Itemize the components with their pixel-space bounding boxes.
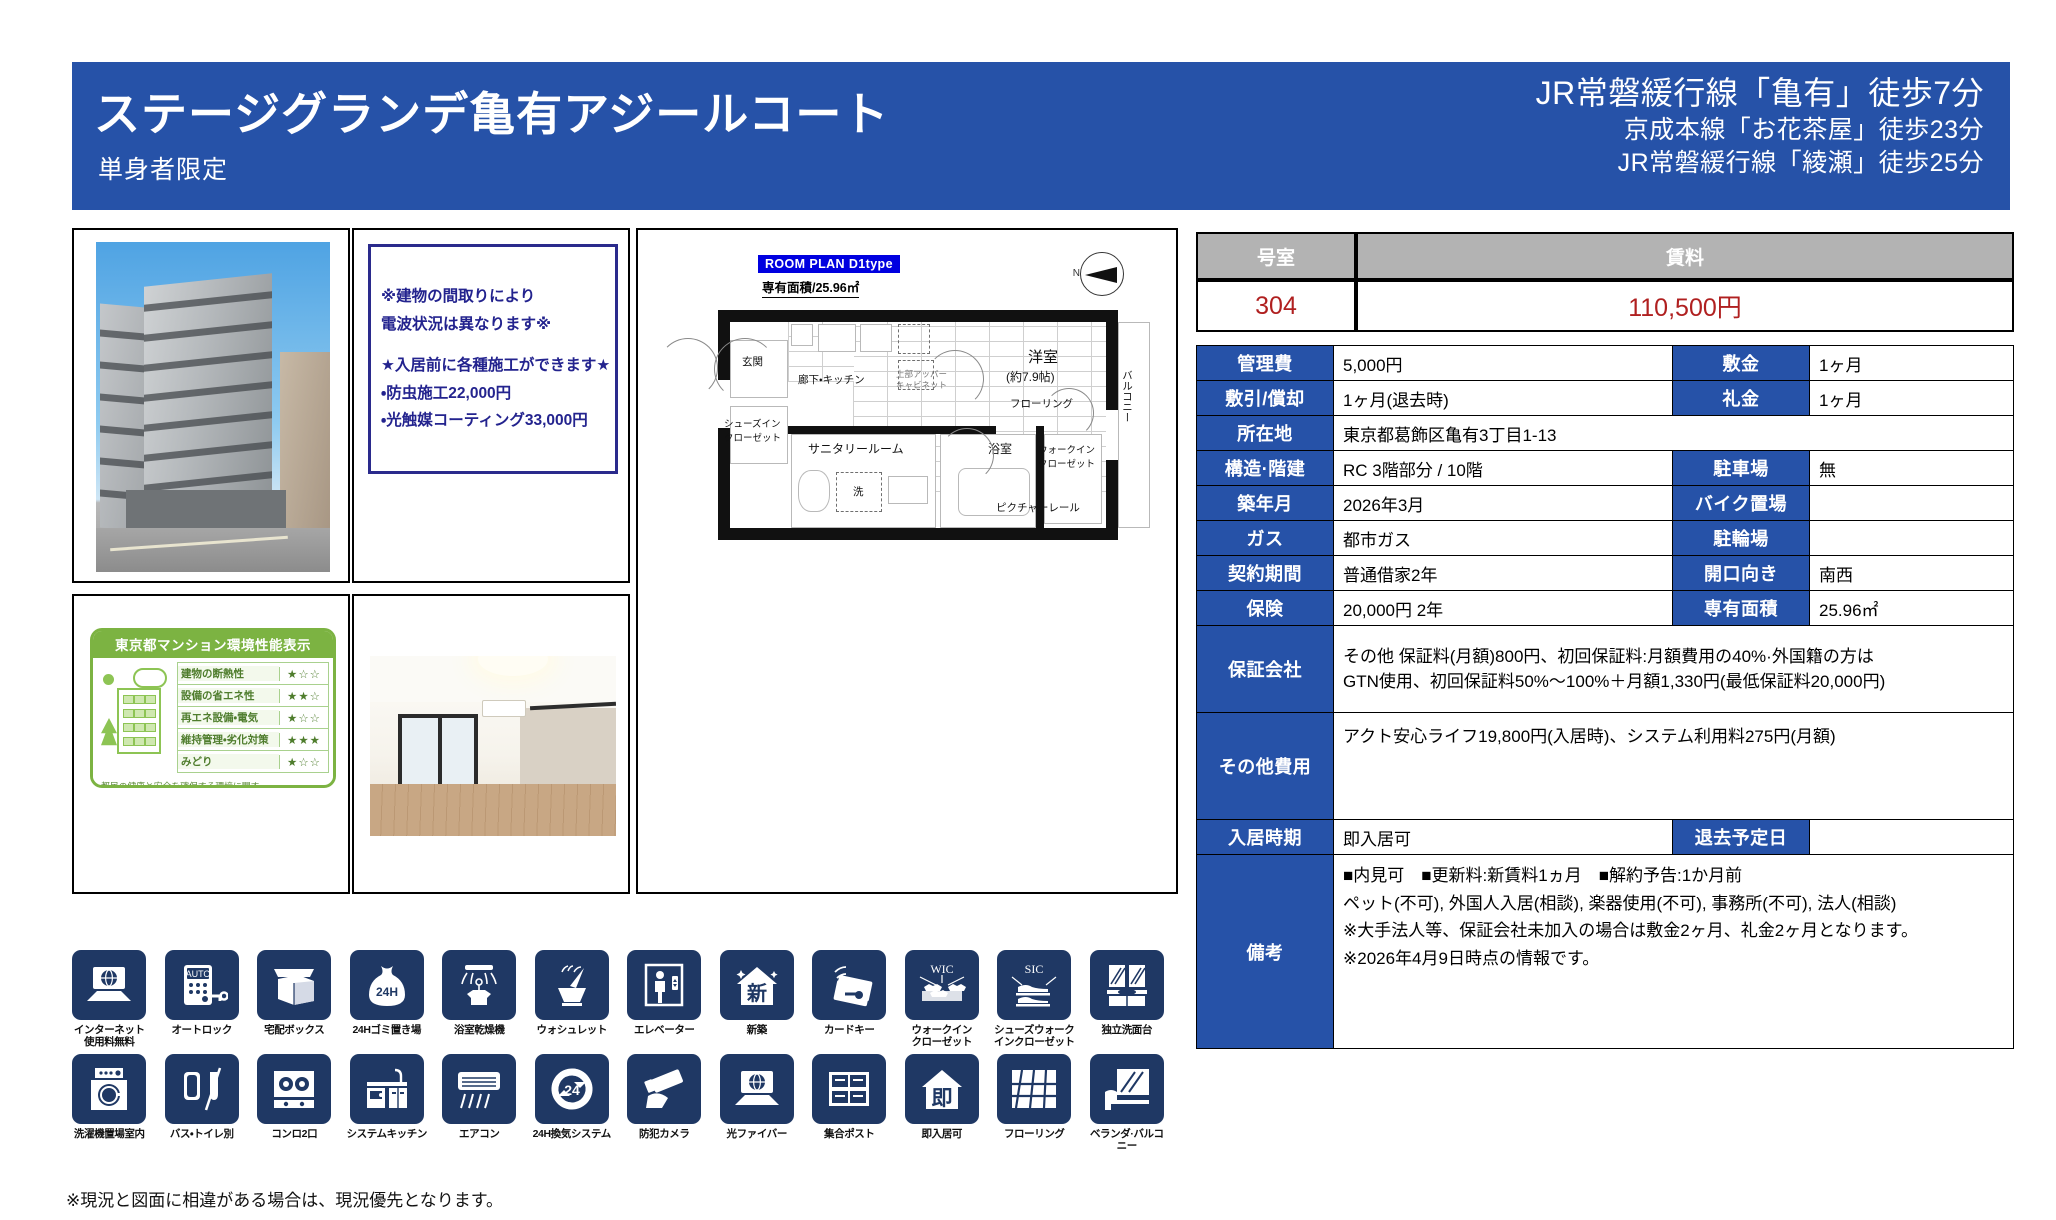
amenity-washer-indoor: 洗濯機置場室内: [68, 1054, 151, 1152]
amenity-caption: エレベーター: [623, 1024, 706, 1036]
eco-rating-row: 建物の断熱性 ★☆☆: [177, 662, 329, 684]
note-line-3: ★入居前に各種施工ができます★: [381, 352, 613, 380]
amenity-bath-dryer: 浴室乾燥機: [438, 950, 521, 1048]
page-subtitle: 単身者限定: [98, 150, 228, 186]
plan-label-shoes-in-2: クローゼット: [724, 430, 781, 444]
plan-label-picture-rail: ピクチャーレール: [996, 500, 1080, 515]
building-entrance-level: [126, 490, 286, 532]
note-line-4: ・防虫施工22,000円: [381, 380, 613, 408]
compass-north-label: N: [1073, 268, 1080, 279]
eco-rating-stars: ★☆☆: [279, 711, 328, 725]
eco-rating-stars: ★☆☆: [279, 667, 328, 681]
row-label-facing: 開口向き: [1673, 556, 1810, 591]
plan-label-room-size: (約7.9帖): [1006, 368, 1055, 385]
price-header-row: 号室 賃料: [1196, 232, 2014, 280]
amenity-air-conditioner: エアコン: [438, 1054, 521, 1152]
amenity-24h-garbage: 24H 24Hゴミ置き場: [346, 950, 429, 1048]
amenity-icons-section: インターネット使用料無料 AUTO オートロック 宅配ボックス 24H 24Hゴ: [68, 950, 1168, 1158]
table-row: 敷引/償却 1ヶ月(退去時) 礼金 1ヶ月: [1197, 381, 2014, 416]
eco-rating-stars: ★☆☆: [279, 755, 328, 769]
svg-text:SIC: SIC: [1025, 962, 1044, 976]
row-value-built-date: 2026年3月: [1334, 486, 1673, 521]
svg-text:24H: 24H: [376, 985, 398, 999]
auto-lock-icon: AUTO: [165, 950, 239, 1020]
table-row: 管理費 5,000円 敷金 1ヶ月: [1197, 346, 2014, 381]
flooring-icon: [997, 1054, 1071, 1124]
amenity-immediate-move-in: 即 即入居可: [901, 1054, 984, 1152]
amenity-caption: 集合ポスト: [808, 1128, 891, 1140]
immediate-move-in-icon: 即: [905, 1054, 979, 1124]
table-row: 構造·階建 RC 3階部分 / 10階 駐車場 無: [1197, 451, 2014, 486]
veranda-balcony-icon: [1090, 1054, 1164, 1124]
remarks-line-4: ※2026年4月9日時点の情報です。: [1343, 945, 2004, 973]
row-label-other-fees: その他費用: [1197, 713, 1334, 820]
walk-in-closet-icon: WIC: [905, 950, 979, 1020]
note-line-5: ・光触媒コーティング33,000円: [381, 407, 613, 435]
amenity-caption: 光ファイバー: [716, 1128, 799, 1140]
table-row: 築年月 2026年3月 バイク置場: [1197, 486, 2014, 521]
system-kitchen-icon: [350, 1054, 424, 1124]
eco-rating-label: みどり: [178, 754, 279, 769]
row-label-insurance: 保険: [1197, 591, 1334, 626]
amenity-delivery-box: 宅配ボックス: [253, 950, 336, 1048]
eco-rating-label: 維持管理・劣化対策: [178, 732, 279, 747]
eco-label-card: 東京都マンション環境性能表示 建物の断熱性 ★☆: [90, 628, 336, 788]
street-foreground: [96, 528, 330, 572]
amenity-system-kitchen: システムキッチン: [346, 1054, 429, 1152]
eco-footer-text: 都民の健康と安全を確保する環境に関する条例に基づき建築主が自己評価したものです。: [101, 780, 261, 788]
amenity-shoes-in-closet: SIC シューズウォークインクローゼット: [993, 950, 1076, 1048]
remarks-line-2: ペット(不可), 外国人入居(相談), 楽器使用(不可), 事務所(不可), 法…: [1343, 890, 2004, 918]
row-label-move-in-date: 入居時期: [1197, 820, 1334, 855]
24h-garbage-icon: 24H: [350, 950, 424, 1020]
amenity-card-key: カードキー: [808, 950, 891, 1048]
station-access-2: 京成本線「お花茶屋」徒歩23分: [1536, 114, 1984, 147]
ceiling-area: [370, 656, 616, 702]
row-value-deposit: 1ヶ月: [1810, 346, 2014, 381]
amenity-caption: コンロ2口: [253, 1128, 336, 1140]
amenity-caption: システムキッチン: [346, 1128, 429, 1140]
amenity-caption: 洗濯機置場室内: [68, 1128, 151, 1140]
amenity-two-burner: コンロ2口: [253, 1054, 336, 1152]
svg-text:AUTO: AUTO: [185, 969, 210, 979]
room-plan-badge: ROOM PLAN D1type: [758, 255, 900, 273]
row-value-facing: 南西: [1810, 556, 2014, 591]
tree-icon: [101, 718, 117, 752]
disclaimer-footnote: ※現況と図面に相違がある場合は、現況優先となります。: [66, 1186, 503, 1211]
amenity-caption: オートロック: [161, 1024, 244, 1036]
construction-options-note: ※建物の間取りにより 電波状況は異なります※ ★入居前に各種施工ができます★ ・…: [352, 228, 630, 583]
table-row: 備考 ■内見可 ■更新料:新賃料1ヵ月 ■解約予告:1か月前 ペット(不可), …: [1197, 855, 2014, 1049]
room-interior-photo: [352, 594, 630, 894]
amenity-caption: 独立洗面台: [1086, 1024, 1169, 1036]
amenity-caption: 浴室乾燥機: [438, 1024, 521, 1036]
building-photo-image: [96, 242, 330, 572]
amenity-washlet: ウォシュレット: [531, 950, 614, 1048]
independent-washstand-icon: [1090, 950, 1164, 1020]
property-detail-table: 管理費 5,000円 敷金 1ヶ月 敷引/償却 1ヶ月(退去時) 礼金 1ヶ月 …: [1196, 345, 2014, 1049]
amenity-washstand: 独立洗面台: [1086, 950, 1169, 1048]
amenity-caption: カードキー: [808, 1024, 891, 1036]
eco-label-body: 建物の断熱性 ★☆☆ 設備の省エネ性 ★★☆ 再エネ設備・電気 ★☆☆ 維持管理…: [93, 658, 333, 780]
guarantee-line-2: GTN使用、初回保証料50%～100%＋月額1,330円(最低保証料20,000…: [1343, 669, 2004, 695]
two-burner-stove-icon: [257, 1054, 331, 1124]
amenity-optical-fiber: 光ファイバー: [716, 1054, 799, 1152]
plan-label-flooring: フローリング: [1010, 396, 1073, 411]
eco-rating-stars: ★★★: [279, 733, 328, 747]
amenity-security-camera: 防犯カメラ: [623, 1054, 706, 1152]
plan-label-walkin-1: ウォークイン: [1038, 442, 1095, 456]
eco-rating-row: 再エネ設備・電気 ★☆☆: [177, 706, 329, 728]
eco-rating-stars: ★★☆: [279, 689, 328, 703]
amenity-caption: エアコン: [438, 1128, 521, 1140]
table-row: 保険 20,000円 2年 専有面積 25.96㎡: [1197, 591, 2014, 626]
row-value-other-fees: アクト安心ライフ19,800円(入居時)、システム利用料275円(月額): [1334, 713, 2014, 820]
eco-label-title: 東京都マンション環境性能表示: [93, 631, 333, 658]
row-label-bicycle-parking: 駐輪場: [1673, 521, 1810, 556]
plan-label-wash: 洗: [853, 484, 864, 499]
row-value-bike-parking: [1810, 486, 2014, 521]
row-label-address: 所在地: [1197, 416, 1334, 451]
amenity-caption: 防犯カメラ: [623, 1128, 706, 1140]
row-value-floor-area: 25.96㎡: [1810, 591, 2014, 626]
station-access-list: JR常磐緩行線「亀有」徒歩7分 京成本線「お花茶屋」徒歩23分 JR常磐緩行線「…: [1536, 72, 1984, 180]
amenity-elevator: エレベーター: [623, 950, 706, 1048]
row-label-built-date: 築年月: [1197, 486, 1334, 521]
price-summary-table: 号室 賃料 304 110,500円: [1196, 232, 2014, 332]
row-label-remarks: 備考: [1197, 855, 1334, 1049]
plan-label-corridor-kitchen: 廊下・キッチン: [798, 372, 865, 387]
row-value-key-money: 1ヶ月: [1810, 381, 2014, 416]
row-value-parking: 無: [1810, 451, 2014, 486]
eco-rating-row: 設備の省エネ性 ★★☆: [177, 684, 329, 706]
floor-plan-panel: ROOM PLAN D1type 専有面積/25.96㎡ N 玄関 シューズイン…: [636, 228, 1178, 894]
row-label-bike-parking: バイク置場: [1673, 486, 1810, 521]
plan-label-sanitary: サニタリールーム: [808, 440, 904, 457]
air-conditioner-unit: [482, 700, 526, 717]
floor-plan-area-text: 専有面積/25.96㎡: [762, 277, 859, 298]
amenity-row-1: インターネット使用料無料 AUTO オートロック 宅配ボックス 24H 24Hゴ: [68, 950, 1168, 1048]
amenity-internet: インターネット使用料無料: [68, 950, 151, 1048]
amenity-24h-ventilation: 24 24H換気システム: [531, 1054, 614, 1152]
row-value-management-fee: 5,000円: [1334, 346, 1673, 381]
row-label-contract-period: 契約期間: [1197, 556, 1334, 591]
row-value-bicycle-parking: [1810, 521, 2014, 556]
price-value-row: 304 110,500円: [1196, 280, 2014, 332]
plan-label-balcony: バルコニー: [1120, 370, 1135, 423]
page-title: ステージグランデ亀有アジールコート: [94, 78, 889, 144]
row-value-guarantee-company: その他 保証料(月額)800円、初回保証料:月額費用の40%·外国籍の方は GT…: [1334, 626, 2014, 713]
note-line-1: ※建物の間取りにより: [381, 283, 613, 311]
room-photo-image: [370, 656, 616, 836]
amenity-walk-in-closet: WIC ウォークインクローゼット: [901, 950, 984, 1048]
amenity-caption: ベランダ·バルコニー: [1086, 1128, 1169, 1152]
price-header-rent: 賃料: [1356, 232, 2014, 280]
rent-value: 110,500円: [1356, 280, 2014, 332]
row-label-move-out-date: 退去予定日: [1673, 820, 1810, 855]
optical-fiber-icon: [720, 1054, 794, 1124]
table-row: 所在地 東京都葛飾区亀有3丁目1-13: [1197, 416, 2014, 451]
security-camera-icon: [627, 1054, 701, 1124]
mailbox-icon: [812, 1054, 886, 1124]
amenity-caption: インターネット使用料無料: [68, 1024, 151, 1048]
row-value-structure: RC 3階部分 / 10階: [1334, 451, 1673, 486]
washer-indoor-icon: [72, 1054, 146, 1124]
amenity-bath-toilet-separate: バス・トイレ別: [161, 1054, 244, 1152]
cloud-icon: [133, 668, 167, 688]
card-key-icon: [812, 950, 886, 1020]
remarks-line-1: ■内見可 ■更新料:新賃料1ヵ月 ■解約予告:1か月前: [1343, 862, 2004, 890]
row-label-gas: ガス: [1197, 521, 1334, 556]
table-row: 保証会社 その他 保証料(月額)800円、初回保証料:月額費用の40%·外国籍の…: [1197, 626, 2014, 713]
shoes-in-closet-icon: SIC: [997, 950, 1071, 1020]
eco-rating-row: 維持管理・劣化対策 ★★★: [177, 728, 329, 750]
row-label-parking: 駐車場: [1673, 451, 1810, 486]
amenity-caption: ウォシュレット: [531, 1024, 614, 1036]
bath-toilet-separate-icon: [165, 1054, 239, 1124]
row-value-insurance: 20,000円 2年: [1334, 591, 1673, 626]
amenity-caption: 即入居可: [901, 1128, 984, 1140]
amenity-caption: 24Hゴミ置き場: [346, 1024, 429, 1036]
elevator-icon: [627, 950, 701, 1020]
row-label-management-fee: 管理費: [1197, 346, 1334, 381]
amenity-caption: バス・トイレ別: [161, 1128, 244, 1140]
eco-rating-rows: 建物の断熱性 ★☆☆ 設備の省エネ性 ★★☆ 再エネ設備・電気 ★☆☆ 維持管理…: [177, 662, 329, 773]
internet-laptop-icon: [72, 950, 146, 1020]
building-icon: [117, 688, 161, 754]
table-row: 契約期間 普通借家2年 開口向き 南西: [1197, 556, 2014, 591]
amenity-mailbox: 集合ポスト: [808, 1054, 891, 1152]
eco-illustration: [99, 666, 173, 756]
amenity-veranda-balcony: ベランダ·バルコニー: [1086, 1054, 1169, 1152]
plan-label-room-name: 洋室: [1028, 346, 1058, 367]
compass-icon: [1080, 252, 1124, 296]
row-label-deposit: 敷金: [1673, 346, 1810, 381]
amenity-new-building: 新 新築: [716, 950, 799, 1048]
row-label-guarantee-company: 保証会社: [1197, 626, 1334, 713]
room-number-value: 304: [1196, 280, 1356, 332]
washlet-icon: [535, 950, 609, 1020]
table-row: ガス 都市ガス 駐輪場: [1197, 521, 2014, 556]
amenity-caption: 宅配ボックス: [253, 1024, 336, 1036]
station-access-1: JR常磐緩行線「亀有」徒歩7分: [1536, 72, 1984, 114]
amenity-caption: ウォークインクローゼット: [901, 1024, 984, 1048]
row-value-amortization: 1ヶ月(退去時): [1334, 381, 1673, 416]
svg-text:24: 24: [564, 1082, 580, 1098]
delivery-box-icon: [257, 950, 331, 1020]
row-label-floor-area: 専有面積: [1673, 591, 1810, 626]
plan-label-walkin-2: クローゼット: [1038, 456, 1095, 470]
amenity-caption: 24H換気システム: [531, 1128, 614, 1140]
building-exterior-photo: [72, 228, 350, 583]
new-building-icon: 新: [720, 950, 794, 1020]
page-header: ステージグランデ亀有アジールコート 単身者限定 JR常磐緩行線「亀有」徒歩7分 …: [72, 62, 2010, 210]
amenity-flooring: フローリング: [993, 1054, 1076, 1152]
guarantee-line-1: その他 保証料(月額)800円、初回保証料:月額費用の40%·外国籍の方は: [1343, 644, 2004, 670]
row-value-move-in-date: 即入居可: [1334, 820, 1673, 855]
note-inner-frame: ※建物の間取りにより 電波状況は異なります※ ★入居前に各種施工ができます★ ・…: [368, 244, 618, 474]
row-label-amortization: 敷引/償却: [1197, 381, 1334, 416]
eco-rating-label: 設備の省エネ性: [178, 688, 279, 703]
bathroom-dryer-icon: [442, 950, 516, 1020]
note-text: ※建物の間取りにより 電波状況は異なります※ ★入居前に各種施工ができます★ ・…: [381, 283, 613, 435]
neighbor-building: [280, 352, 330, 530]
eco-rating-row: みどり ★☆☆: [177, 750, 329, 773]
station-access-3: JR常磐緩行線「綾瀬」徒歩25分: [1536, 147, 1984, 180]
air-conditioner-icon: [442, 1054, 516, 1124]
svg-text:WIC: WIC: [930, 962, 953, 976]
amenity-caption: 新築: [716, 1024, 799, 1036]
row-value-contract-period: 普通借家2年: [1334, 556, 1673, 591]
eco-label-footer: 都民の健康と安全を確保する環境に関する条例に基づき建築主が自己評価したものです。…: [93, 780, 333, 788]
amenity-auto-lock: AUTO オートロック: [161, 950, 244, 1048]
row-label-key-money: 礼金: [1673, 381, 1810, 416]
sun-icon: [103, 674, 114, 685]
wood-flooring: [370, 784, 616, 836]
eco-rating-label: 再エネ設備・電気: [178, 710, 279, 725]
property-listing-sheet: ステージグランデ亀有アジールコート 単身者限定 JR常磐緩行線「亀有」徒歩7分 …: [0, 0, 2056, 1220]
note-line-2: 電波状況は異なります※: [381, 311, 613, 339]
amenity-caption: フローリング: [993, 1128, 1076, 1140]
24h-ventilation-icon: 24: [535, 1054, 609, 1124]
floor-plan-drawing: 玄関 シューズイン クローゼット 廊下・キッチン 上部アッパー キャビネット サ…: [658, 310, 1158, 600]
svg-text:新: 新: [746, 982, 767, 1005]
row-value-gas: 都市ガス: [1334, 521, 1673, 556]
eco-performance-label: 東京都マンション環境性能表示 建物の断熱性 ★☆: [72, 594, 350, 894]
row-value-move-out-date: [1810, 820, 2014, 855]
plan-label-shoes-in-1: シューズイン: [724, 416, 781, 430]
row-label-structure: 構造·階建: [1197, 451, 1334, 486]
table-row: 入居時期 即入居可 退去予定日: [1197, 820, 2014, 855]
eco-rating-label: 建物の断熱性: [178, 666, 279, 681]
price-header-room-no: 号室: [1196, 232, 1356, 280]
svg-text:即: 即: [931, 1087, 952, 1110]
remarks-line-3: ※大手法人等、保証会社未加入の場合は敷金2ヶ月、礼金2ヶ月となります。: [1343, 917, 2004, 945]
table-row: その他費用 アクト安心ライフ19,800円(入居時)、システム利用料275円(月…: [1197, 713, 2014, 820]
row-value-address: 東京都葛飾区亀有3丁目1-13: [1334, 416, 2014, 451]
row-value-remarks: ■内見可 ■更新料:新賃料1ヵ月 ■解約予告:1か月前 ペット(不可), 外国人…: [1334, 855, 2014, 1049]
ceiling-light: [478, 656, 548, 676]
amenity-row-2: 洗濯機置場室内 バス・トイレ別 コンロ2口 システムキッチン: [68, 1054, 1168, 1152]
amenity-caption: シューズウォークインクローゼット: [993, 1024, 1076, 1048]
